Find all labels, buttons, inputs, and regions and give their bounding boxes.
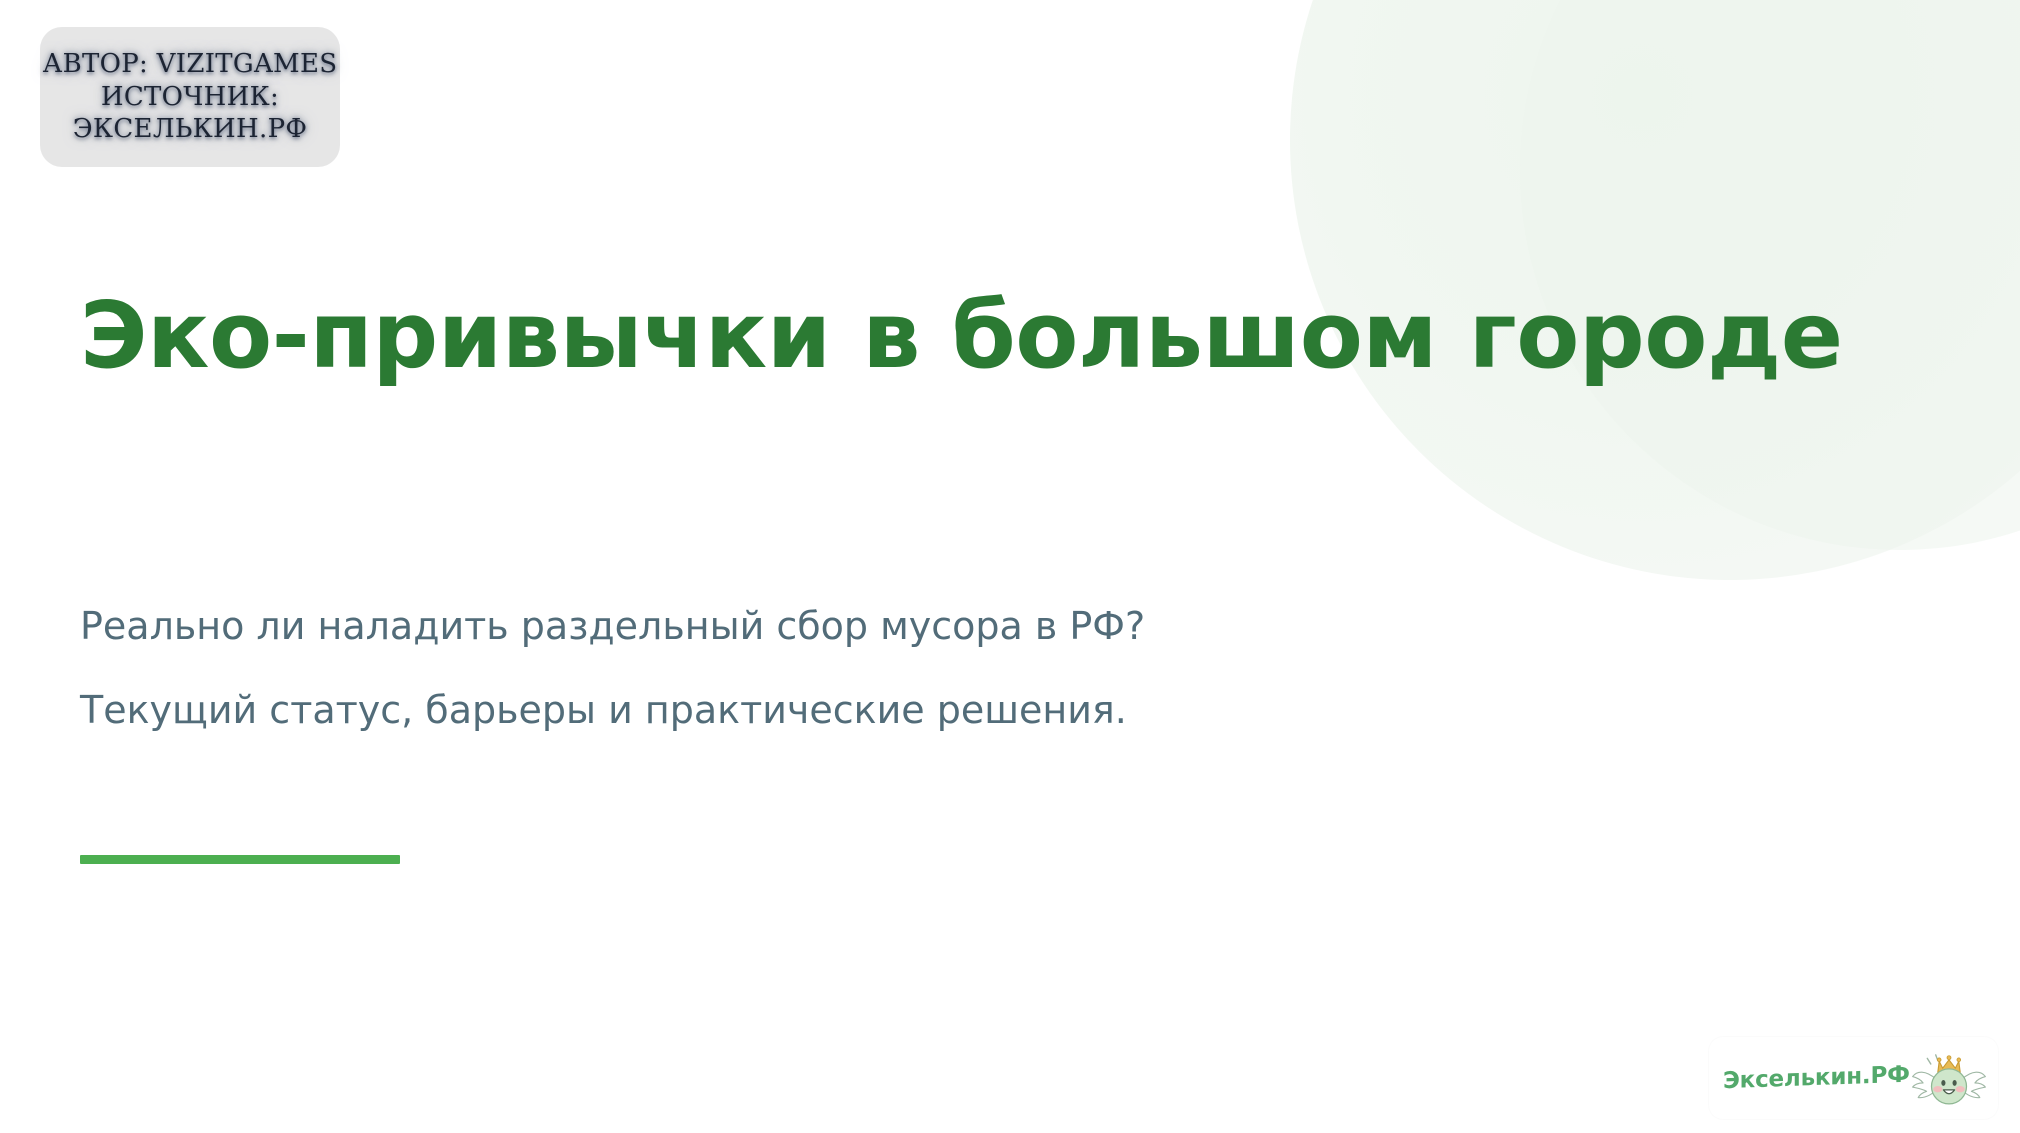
mascot-icon (1906, 1043, 1992, 1113)
subtitle-block: Реально ли наладить раздельный сбор мусо… (80, 603, 1580, 734)
accent-underline-bar (80, 855, 400, 864)
page-title: Эко-привычки в большом городе (80, 288, 1843, 385)
subtitle-line-2: Текущий статус, барьеры и практические р… (80, 687, 1580, 735)
brand-logo: Экселькин.РФ (1709, 1037, 1998, 1119)
subtitle-line-1: Реально ли наладить раздельный сбор мусо… (80, 603, 1580, 651)
brand-name-label: Экселькин.РФ (1723, 1062, 1910, 1095)
slide-content: Эко-привычки в большом городе Реально ли… (80, 0, 1960, 1133)
slide-root: АВТОР: VIZITGAMES ИСТОЧНИК: ЭКСЕЛЬКИН.РФ… (0, 0, 2020, 1133)
